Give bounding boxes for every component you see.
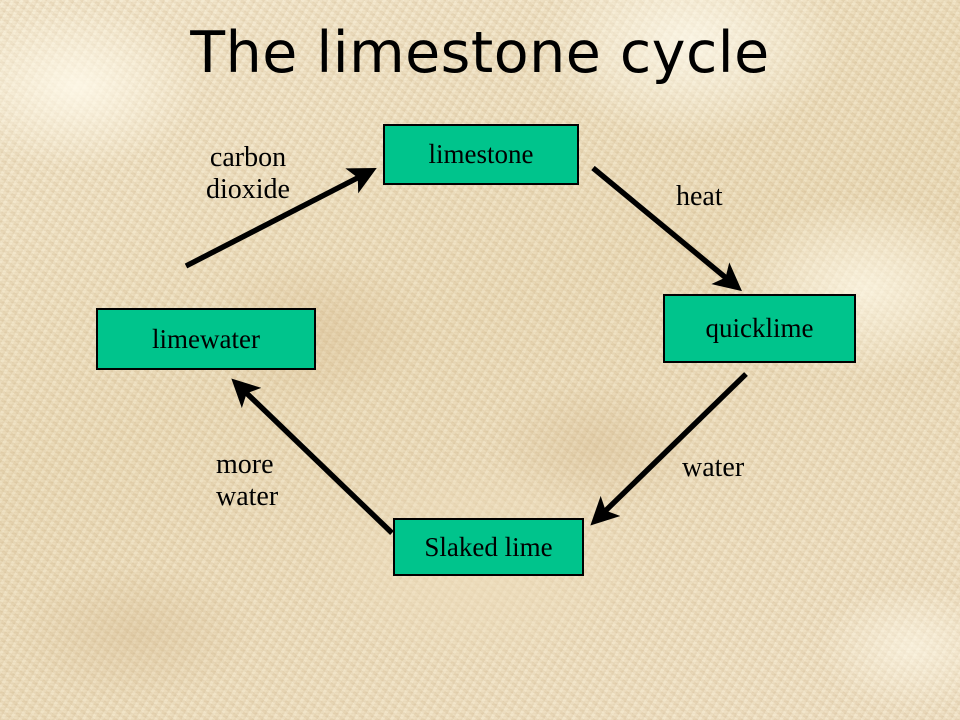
node-limewater-label: limewater [152, 326, 260, 353]
edge-label-more-water: more water [216, 449, 278, 514]
arrow-quicklime-to-slaked-lime [595, 374, 746, 521]
page-title: The limestone cycle [0, 24, 960, 84]
node-limewater[interactable]: limewater [96, 308, 316, 370]
edge-label-heat: heat [676, 181, 723, 213]
node-quicklime[interactable]: quicklime [663, 294, 856, 363]
slide-canvas: The limestone cycle limestone quicklime … [0, 0, 960, 720]
edge-label-carbon-dioxide: carbon dioxide [168, 142, 328, 207]
edge-label-water: water [682, 452, 744, 484]
node-limestone[interactable]: limestone [383, 124, 579, 185]
node-quicklime-label: quicklime [706, 315, 814, 342]
node-slaked-lime-label: Slaked lime [424, 534, 552, 561]
node-limestone-label: limestone [429, 141, 534, 168]
node-slaked-lime[interactable]: Slaked lime [393, 518, 584, 576]
